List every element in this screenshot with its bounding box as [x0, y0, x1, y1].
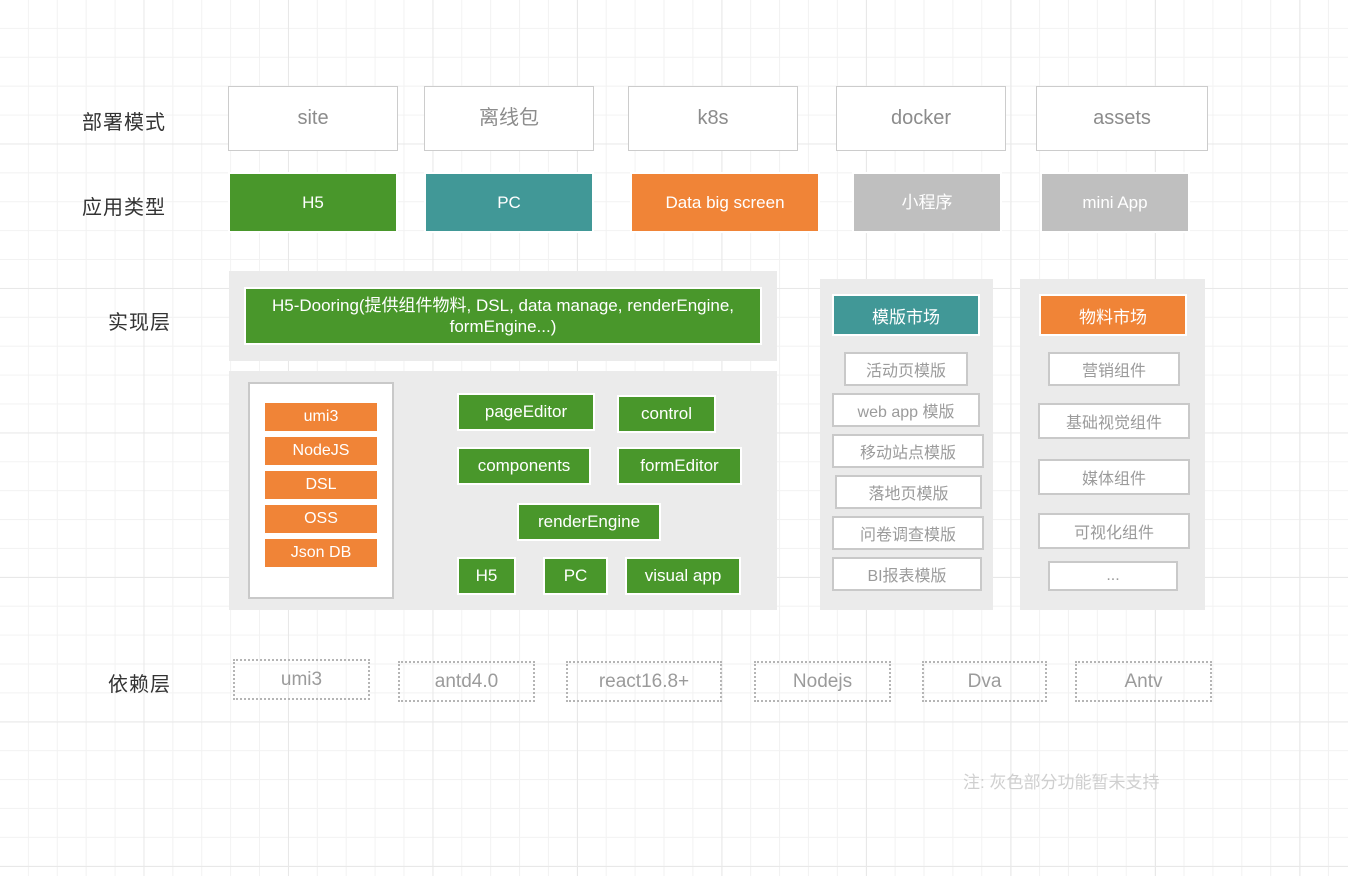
implementation-banner-panel: H5-Dooring(提供组件物料, DSL, data manage, ren… — [229, 271, 777, 361]
deploy-mode-k8s[interactable]: k8s — [628, 86, 798, 151]
material-market-header[interactable]: 物料市场 — [1039, 294, 1187, 336]
deploy-mode-offline-package[interactable]: 离线包 — [424, 86, 594, 151]
row-label-deploy-mode: 部署模式 — [82, 106, 166, 135]
dependency-antd4[interactable]: antd4.0 — [398, 661, 535, 702]
template-item-bi-report[interactable]: BI报表模版 — [832, 557, 982, 591]
dependency-nodejs[interactable]: Nodejs — [754, 661, 891, 702]
app-type-data-big-screen[interactable]: Data big screen — [630, 172, 820, 233]
footnote-unsupported: 注: 灰色部分功能暂未支持 — [963, 768, 1159, 793]
dependency-dva[interactable]: Dva — [922, 661, 1047, 702]
dependency-umi3[interactable]: umi3 — [233, 659, 370, 700]
material-item-marketing-components[interactable]: 营销组件 — [1048, 352, 1180, 386]
architecture-diagram: 部署模式 应用类型 实现层 依赖层 site 离线包 k8s docker as… — [0, 0, 1348, 876]
module-visual-app[interactable]: visual app — [625, 557, 741, 595]
row-label-implementation: 实现层 — [108, 306, 171, 335]
template-item-questionnaire[interactable]: 问卷调查模版 — [832, 516, 984, 550]
app-type-mini-program[interactable]: 小程序 — [852, 172, 1002, 233]
material-item-more[interactable]: ... — [1048, 561, 1178, 591]
module-h5[interactable]: H5 — [457, 557, 516, 595]
material-item-media-components[interactable]: 媒体组件 — [1038, 459, 1190, 495]
material-item-basic-visual-components[interactable]: 基础视觉组件 — [1038, 403, 1190, 439]
stack-item-umi3[interactable]: umi3 — [264, 402, 378, 432]
material-market-panel: 物料市场 营销组件 基础视觉组件 媒体组件 可视化组件 ... — [1020, 279, 1205, 610]
app-type-h5[interactable]: H5 — [228, 172, 398, 233]
row-label-app-type: 应用类型 — [82, 191, 166, 220]
template-item-mobile-site[interactable]: 移动站点模版 — [832, 434, 984, 468]
template-item-activity-page[interactable]: 活动页模版 — [844, 352, 968, 386]
module-render-engine[interactable]: renderEngine — [517, 503, 661, 541]
material-item-visualization-components[interactable]: 可视化组件 — [1038, 513, 1190, 549]
deploy-mode-assets[interactable]: assets — [1036, 86, 1208, 151]
row-label-dependency: 依赖层 — [108, 668, 171, 697]
template-item-web-app[interactable]: web app 模版 — [832, 393, 980, 427]
deploy-mode-site[interactable]: site — [228, 86, 398, 151]
stack-item-oss[interactable]: OSS — [264, 504, 378, 534]
stack-item-dsl[interactable]: DSL — [264, 470, 378, 500]
template-market-header[interactable]: 模版市场 — [832, 294, 980, 336]
template-item-landing-page[interactable]: 落地页模版 — [835, 475, 982, 509]
module-form-editor[interactable]: formEditor — [617, 447, 742, 485]
template-market-panel: 模版市场 活动页模版 web app 模版 移动站点模版 落地页模版 问卷调查模… — [820, 279, 993, 610]
module-page-editor[interactable]: pageEditor — [457, 393, 595, 431]
implementation-stack-container: umi3 NodeJS DSL OSS Json DB — [248, 382, 394, 599]
dependency-react16[interactable]: react16.8+ — [566, 661, 722, 702]
implementation-modules-panel: umi3 NodeJS DSL OSS Json DB pageEditor c… — [229, 371, 777, 610]
stack-item-json-db[interactable]: Json DB — [264, 538, 378, 568]
module-components[interactable]: components — [457, 447, 591, 485]
app-type-pc[interactable]: PC — [424, 172, 594, 233]
module-pc[interactable]: PC — [543, 557, 608, 595]
module-control[interactable]: control — [617, 395, 716, 433]
dependency-antv[interactable]: Antv — [1075, 661, 1212, 702]
app-type-mini-app[interactable]: mini App — [1040, 172, 1190, 233]
stack-item-nodejs[interactable]: NodeJS — [264, 436, 378, 466]
implementation-banner-h5-dooring[interactable]: H5-Dooring(提供组件物料, DSL, data manage, ren… — [244, 287, 762, 345]
deploy-mode-docker[interactable]: docker — [836, 86, 1006, 151]
